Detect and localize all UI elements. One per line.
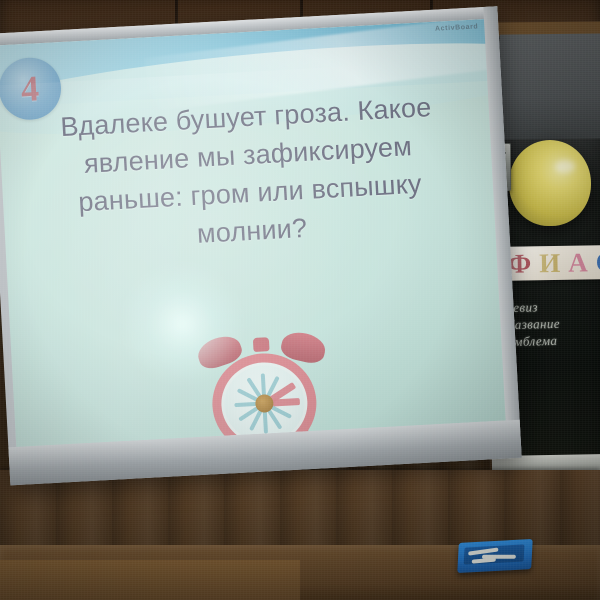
interactive-whiteboard[interactable]: 4 ActivBoard Вдалеке бушует гроза. Какое… — [0, 6, 522, 485]
chalk-stick — [472, 558, 496, 564]
classroom-banner: Ф И А С — [503, 245, 600, 281]
blackboard-chalk-notes: Девиз Название Эмблема — [504, 297, 600, 350]
blue-chalk-tray — [457, 539, 532, 573]
chalk-line: Эмблема — [505, 331, 600, 350]
projected-slide: 4 ActivBoard Вдалеке бушует гроза. Какое… — [0, 19, 510, 447]
banner-letter: А — [565, 249, 591, 276]
alarm-clock-illustration — [186, 323, 342, 443]
blackboard-upper-gray-area — [499, 33, 600, 139]
clock-top-knob — [253, 337, 270, 352]
wooden-ledge-front — [0, 560, 300, 600]
yellow-balloon — [509, 140, 591, 226]
banner-letter: И — [536, 249, 563, 276]
chalk-tray-interior — [464, 544, 525, 564]
slide-number-label: 4 — [20, 67, 40, 110]
slide-question-text: Вдалеке бушует гроза. Какое явление мы з… — [10, 85, 488, 262]
balloon-highlight — [555, 160, 575, 173]
banner-letter: С — [592, 248, 600, 275]
classroom-scene: Ф И А С Девиз Название Эмблема — [0, 0, 600, 600]
